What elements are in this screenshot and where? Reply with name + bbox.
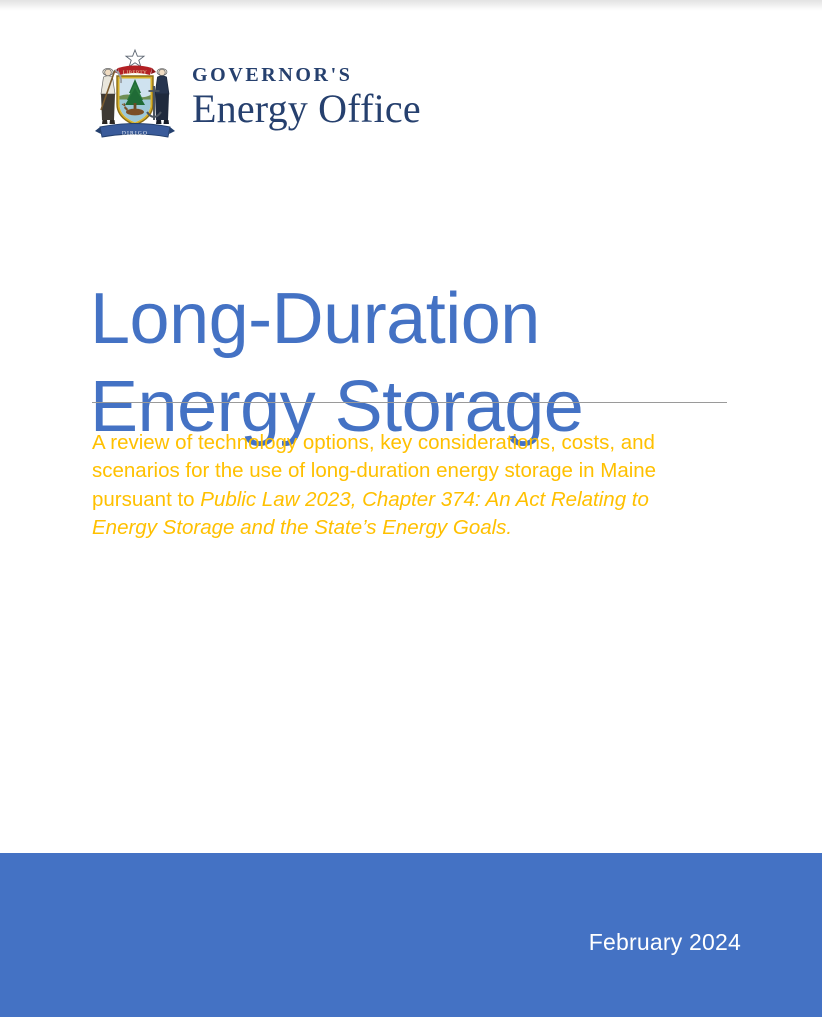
page-title-line1: Long-Duration [90,276,740,364]
subtitle: A review of technology options, key cons… [92,429,717,543]
svg-text:DIRIGO: DIRIGO [122,130,148,136]
page-title: Long-Duration Energy Storage [90,276,740,452]
masthead: LIBERTY [92,48,421,143]
publication-date: February 2024 [0,928,741,956]
organization-name-line2: Energy Office [192,88,421,130]
svg-text:LIBERTY: LIBERTY [123,70,147,76]
title-divider [92,402,727,403]
maine-state-seal-icon: LIBERTY [92,48,178,143]
document-page: LIBERTY [0,0,822,1017]
viewer-top-edge [0,0,822,11]
organization-wordmark: GOVERNOR'S Energy Office [192,61,421,130]
organization-name-line1: GOVERNOR'S [192,65,421,85]
